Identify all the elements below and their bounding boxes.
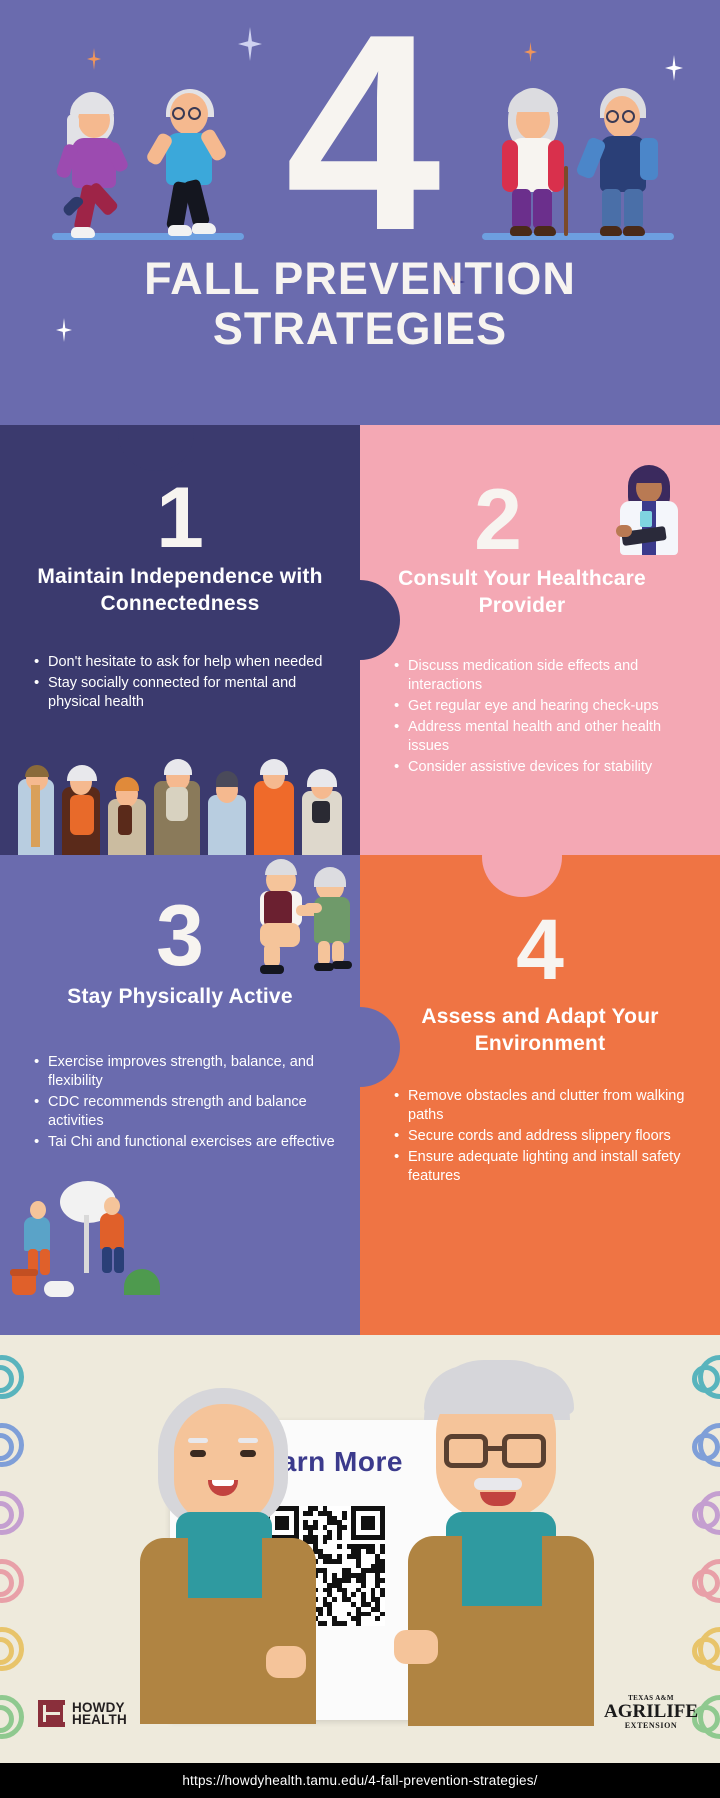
page-title-line-1: FALL PREVENTION: [0, 255, 720, 303]
cane-icon: [564, 166, 568, 236]
list-item: CDC recommends strength and balance acti…: [34, 1093, 336, 1131]
list-item: Get regular eye and hearing check-ups: [394, 697, 696, 716]
page-title-line-2: STRATEGIES: [0, 303, 720, 355]
strategy-title-1: Maintain Independence with Connectedness: [0, 563, 360, 617]
strategy-bullets-2: Discuss medication side effects and inte…: [360, 657, 720, 779]
strategy-card-1[interactable]: 1 Maintain Independence with Connectedne…: [0, 425, 360, 855]
url-text: https://howdyhealth.tamu.edu/4-fall-prev…: [182, 1773, 537, 1788]
infographic-poster: 4: [0, 0, 720, 1798]
strategy-card-3[interactable]: 3 Stay Physically Active Exercise improv…: [0, 855, 360, 1335]
illustration-elderly-woman-sign: [126, 1388, 356, 1728]
howdy-line-2: HEALTH: [72, 1714, 127, 1726]
list-item: Tai Chi and functional exercises are eff…: [34, 1133, 336, 1152]
list-item: Don't hesitate to ask for help when need…: [34, 653, 336, 672]
strategy-card-4[interactable]: 4 Assess and Adapt Your Environment Remo…: [360, 855, 720, 1335]
list-item: Discuss medication side effects and inte…: [394, 657, 696, 695]
illustration-woman-walking: [58, 92, 158, 237]
illustration-garden-scene: [4, 1177, 164, 1327]
strategy-number-1: 1: [0, 475, 360, 561]
illustration-man-standing: [588, 88, 688, 238]
list-item: Ensure adequate lighting and install saf…: [394, 1148, 696, 1186]
illustration-man-walking: [152, 85, 262, 237]
list-item: Stay socially connected for mental and p…: [34, 674, 336, 712]
header-section: 4: [0, 0, 720, 425]
strategy-title-3: Stay Physically Active: [0, 983, 360, 1010]
list-item: Exercise improves strength, balance, and…: [34, 1053, 336, 1091]
strategy-bullets-1: Don't hesitate to ask for help when need…: [0, 653, 360, 714]
strategy-bullets-3: Exercise improves strength, balance, and…: [0, 1053, 360, 1154]
illustration-elderly-man-sign: [380, 1360, 620, 1730]
spiral-decoration-left: [0, 1335, 28, 1763]
puzzle-knob-top: [118, 425, 194, 471]
howdy-mark-icon: [38, 1700, 65, 1727]
illustration-doctor: [608, 467, 690, 557]
list-item: Secure cords and address slippery floors: [394, 1127, 696, 1146]
list-item: Address mental health and other health i…: [394, 718, 696, 756]
strategy-title-4: Assess and Adapt Your Environment: [360, 1003, 720, 1057]
url-bar[interactable]: https://howdyhealth.tamu.edu/4-fall-prev…: [0, 1763, 720, 1798]
strategy-bullets-4: Remove obstacles and clutter from walkin…: [360, 1087, 720, 1188]
list-item: Remove obstacles and clutter from walkin…: [394, 1087, 696, 1125]
howdy-health-wordmark: HOWDY HEALTH: [72, 1702, 127, 1726]
illustration-exercising-seniors: [252, 857, 360, 981]
puzzle-notch-top: [482, 855, 562, 897]
strategy-title-2: Consult Your Healthcare Provider: [360, 565, 702, 619]
strategy-card-2[interactable]: 2 Consult Your Healthcare Provider Discu…: [360, 425, 720, 855]
strategy-number-4: 4: [360, 907, 720, 993]
page-title: FALL PREVENTION STRATEGIES: [0, 255, 720, 355]
howdy-health-logo: HOWDY HEALTH: [38, 1700, 127, 1727]
list-item: Consider assistive devices for stability: [394, 758, 696, 777]
illustration-senior-group: [14, 765, 350, 855]
